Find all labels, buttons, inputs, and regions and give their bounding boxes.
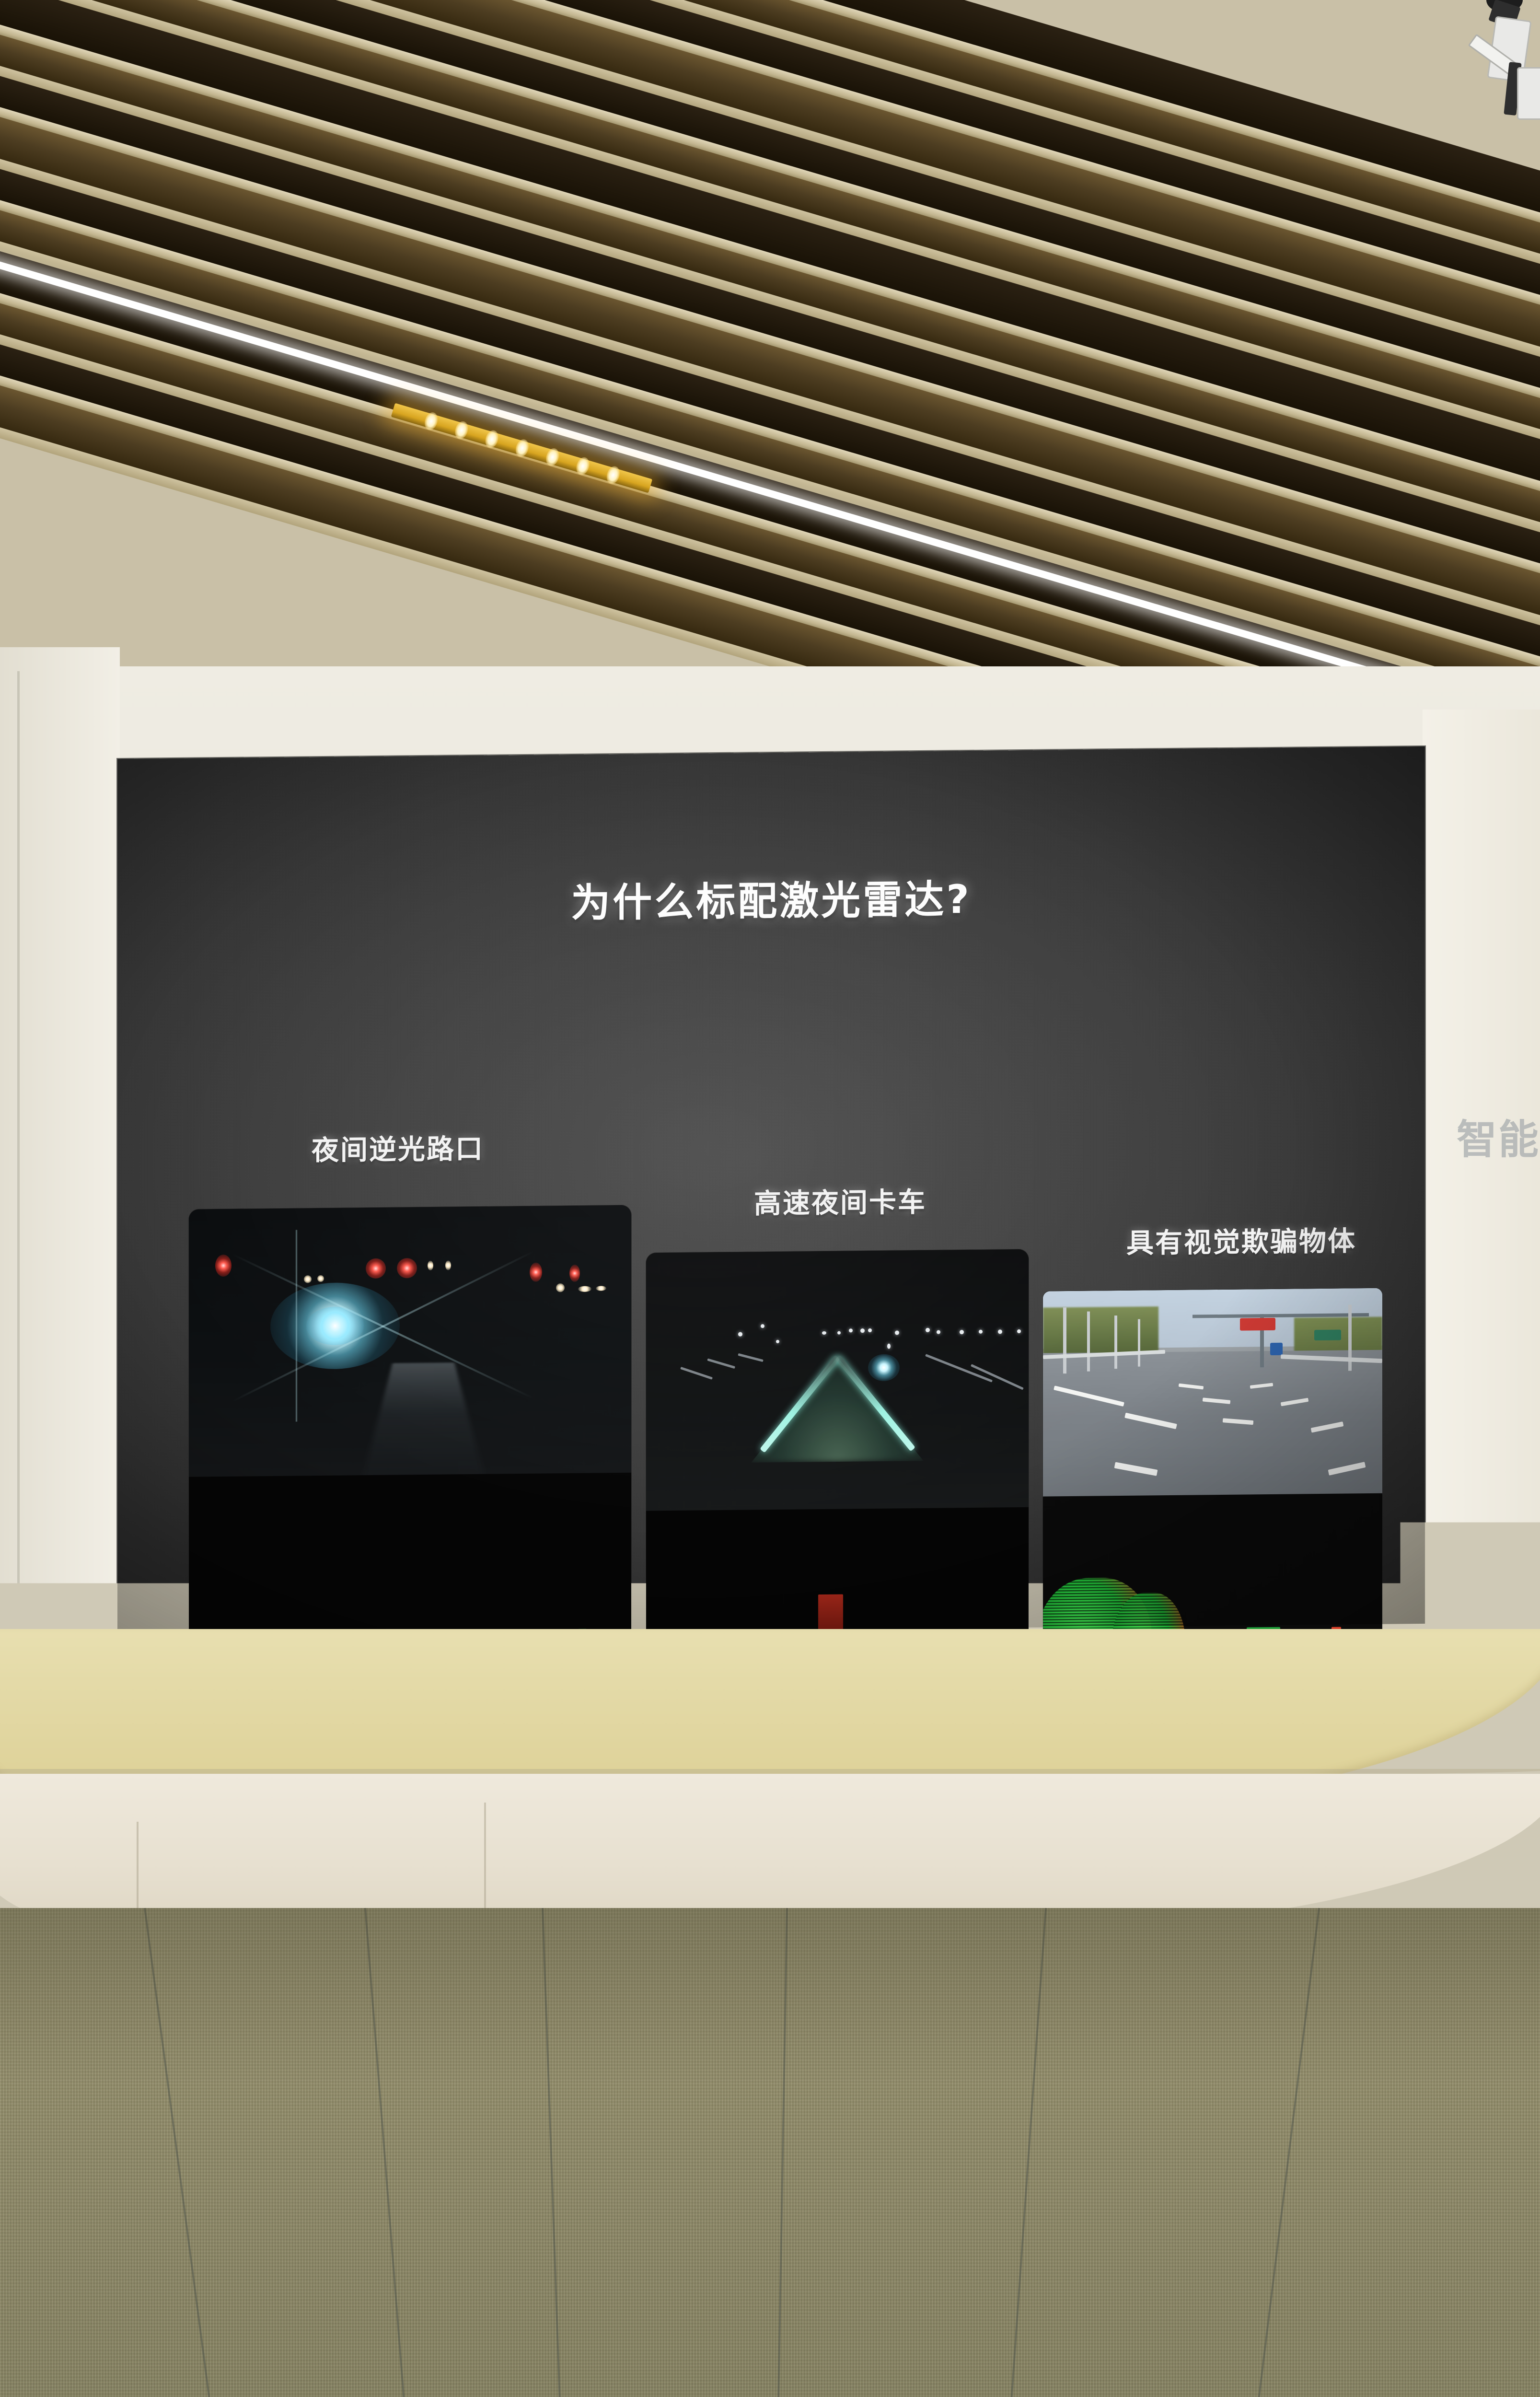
slide-title: 为什么标配激光雷达?	[117, 863, 1425, 932]
room-scene: 智能 为什么标配激光雷达? 夜间逆光路口	[0, 0, 1540, 2397]
lidar-truck-object	[818, 1594, 843, 1632]
camera-view-daytime-highway	[1043, 1288, 1382, 1498]
presentation-screen[interactable]: 为什么标配激光雷达? 夜间逆光路口	[117, 746, 1425, 1636]
panel-caption-visual-deception-object: 具有视觉欺骗物体	[1126, 1219, 1356, 1261]
camera-view-highway-night	[646, 1249, 1029, 1512]
panel-caption-night-intersection: 夜间逆光路口	[312, 1127, 484, 1168]
spotlight-housing	[1517, 67, 1540, 120]
ceiling-spotlight-fixture	[1445, 0, 1540, 134]
ceiling-wood-slats	[0, 0, 1540, 767]
wall-seam	[17, 671, 20, 1649]
right-wall-panel	[1423, 710, 1540, 1649]
camera-view-night-intersection	[189, 1205, 631, 1478]
floor-shadow-gradient	[0, 1908, 1540, 2081]
panel-caption-highway-night-truck: 高速夜间卡车	[754, 1180, 926, 1221]
wall-sign-partial-text: 智能	[1457, 1107, 1540, 1165]
